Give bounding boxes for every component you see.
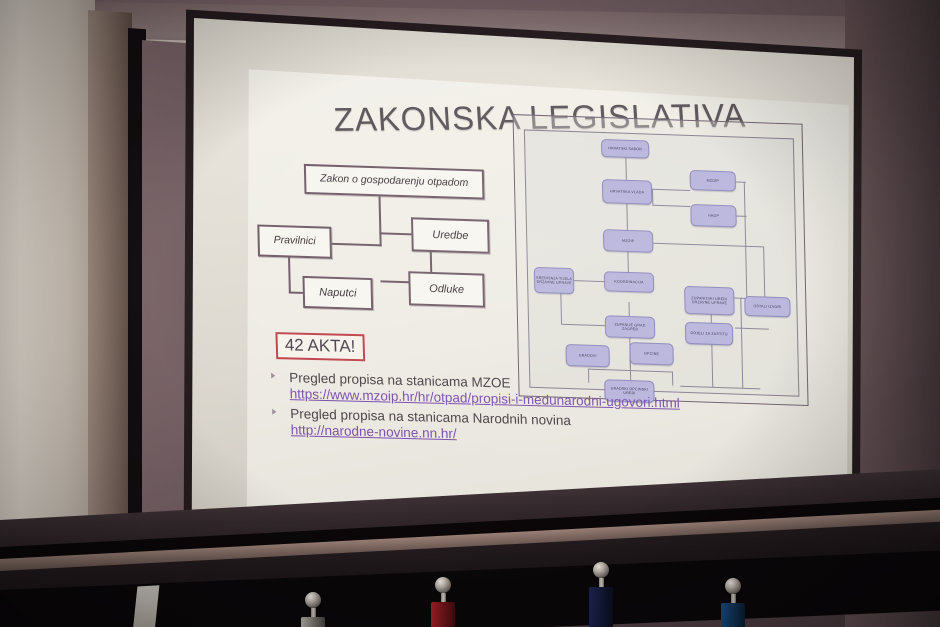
hier-connector — [288, 253, 291, 293]
flow-node-koordinacija: KOORDINACIJA — [604, 271, 654, 293]
bullet-arrow-icon — [272, 409, 276, 415]
flow-connector — [561, 324, 607, 327]
flow-node-haop: HAOP — [690, 204, 736, 228]
flow-connector — [740, 298, 743, 388]
bullet-list: Pregled propisa na stanicama MZOE https:… — [263, 369, 785, 454]
flow-node-mzoip-top: MZOIP — [690, 170, 736, 192]
legislation-hierarchy-diagram: Zakon o gospodarenju otpadom Pravilnici … — [260, 156, 504, 324]
flow-node-ostali-izvori: OSTALI IZVORI — [744, 296, 790, 318]
flag-finial-icon — [593, 562, 609, 578]
flow-node-opcine: OPCINE — [629, 342, 673, 365]
flow-node-zupanijski-uredi: ZUPANIJSKI UREDI DRZAVNE UPRAVE — [684, 286, 735, 316]
flag-cloth — [301, 617, 325, 627]
room-scene: ZAKONSKA LEGISLATIVA Zakon o gospodarenj… — [0, 0, 940, 627]
flag-finial-icon — [725, 578, 741, 594]
flag-pole — [311, 608, 316, 617]
flow-connector — [744, 182, 748, 302]
bullet-arrow-icon — [271, 373, 275, 379]
hier-node-odluke: Odluke — [408, 271, 485, 307]
flow-node-gradovi: GRADOVI — [565, 344, 609, 367]
flag-finial-icon — [305, 592, 321, 608]
flag-1 — [300, 592, 326, 627]
flow-node-zupanije-zagreb: ZUPANIJE GRAD ZAGREB — [605, 315, 655, 339]
flag-pole — [731, 594, 736, 603]
flag-3 — [588, 562, 614, 627]
flow-connector — [652, 189, 653, 205]
flowchart-inner-border: HRVATSKI SABOR HRVATSKA VLADA MZOIP HAOP… — [524, 129, 800, 396]
hier-node-root: Zakon o gospodarenju otpadom — [304, 164, 485, 200]
flow-connector — [652, 189, 690, 191]
flag-2 — [430, 577, 456, 627]
hier-node-uredbe: Uredbe — [411, 217, 490, 254]
flow-connector — [560, 290, 562, 324]
flow-connector — [626, 204, 628, 230]
flow-node-hrvatska-vlada: HRVATSKA VLADA — [602, 179, 653, 205]
flag-cloth — [589, 587, 613, 627]
flag-cloth — [721, 603, 745, 627]
flow-node-hrvatski-sabor: HRVATSKI SABOR — [601, 139, 649, 159]
flow-connector — [652, 205, 690, 207]
akta-badge-label: 42 AKTA! — [285, 335, 356, 356]
flag-4 — [720, 578, 746, 627]
hier-node-pravilnici: Pravilnici — [257, 224, 332, 258]
flag-finial-icon — [435, 577, 451, 593]
government-flowchart: HRVATSKI SABOR HRVATSKA VLADA MZOIP HAOP… — [513, 114, 809, 406]
hier-node-naputci: Naputci — [302, 276, 373, 310]
flow-connector — [574, 280, 608, 282]
light-reflection-streak — [133, 585, 160, 627]
akta-badge: 42 AKTA! — [275, 332, 364, 361]
flag-pole — [599, 578, 604, 587]
flow-node-sredisnja-tijela: SREDISNJA TIJELA DRZAVNE UPRAVE — [534, 267, 575, 294]
flag-cloth — [431, 602, 455, 627]
flow-node-mzoip: MZOIP — [603, 229, 653, 253]
flow-connector — [653, 243, 763, 248]
flow-node-odjeli-zastitu: ODJELI ZA ZASTITU — [685, 322, 733, 346]
flow-connector — [711, 307, 714, 387]
flow-connector — [763, 246, 765, 296]
flag-pole — [441, 593, 446, 602]
flow-connector — [625, 158, 626, 180]
